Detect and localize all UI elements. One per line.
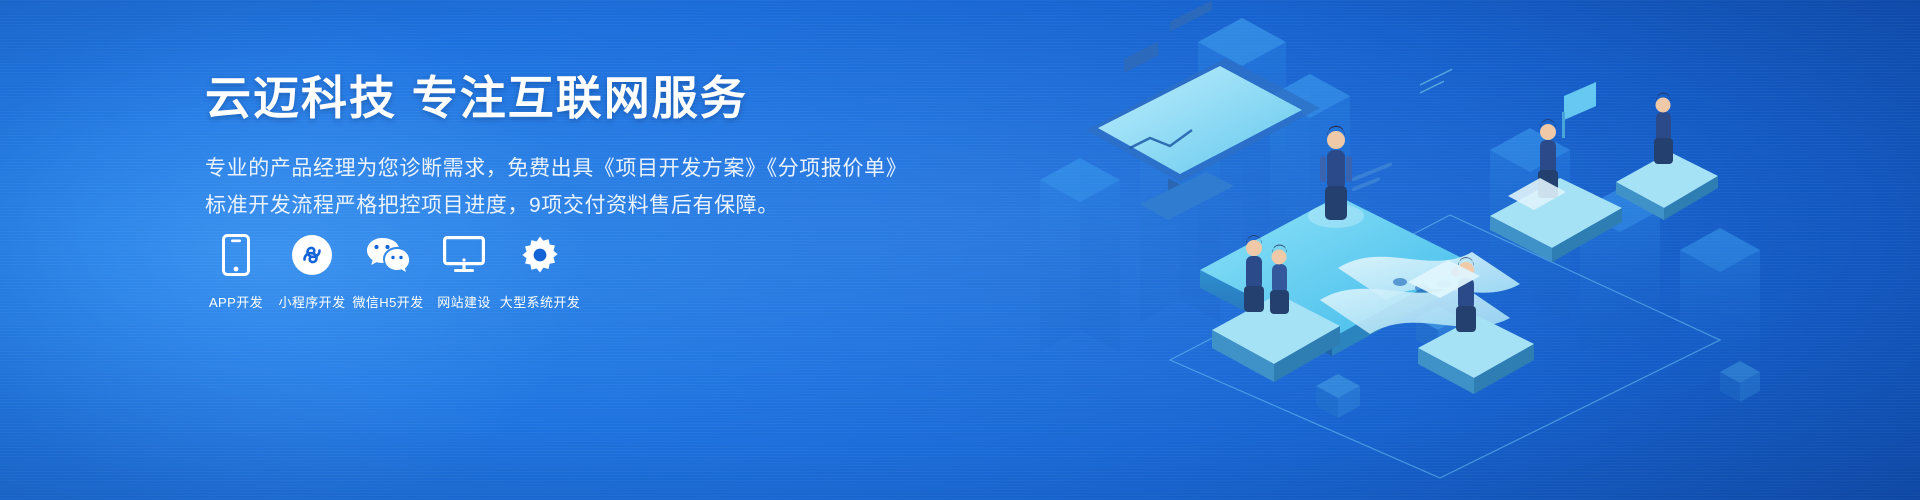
figure-lower-1 [1244, 235, 1264, 312]
service-label: 大型系统开发 [500, 292, 580, 311]
service-item-wechat-h5[interactable]: 微信H5开发 [352, 232, 424, 311]
service-item-miniprogram[interactable]: 小程序开发 [276, 232, 348, 311]
service-label: 微信H5开发 [352, 292, 423, 311]
service-item-website[interactable]: 网站建设 [428, 232, 500, 311]
subtitle-line-1: 专业的产品经理为您诊断需求，免费出具《项目开发方案》《分项报价单》 [205, 150, 905, 187]
service-label: APP开发 [209, 292, 263, 311]
service-item-large-system[interactable]: 大型系统开发 [504, 232, 576, 311]
service-list: APP开发 小程序开发 [200, 232, 580, 311]
gear-icon [519, 232, 561, 278]
page-title: 云迈科技 专注互联网服务 [205, 70, 905, 128]
figure-right-2 [1654, 93, 1673, 164]
promo-banner: 云迈科技 专注互联网服务 专业的产品经理为您诊断需求，免费出具《项目开发方案》《… [0, 0, 1920, 500]
subtitle-line-2: 标准开发流程严格把控项目进度，9项交付资料售后有保障。 [205, 187, 905, 224]
mobile-phone-icon [222, 232, 250, 278]
service-label: 网站建设 [437, 292, 491, 311]
banner-content: 云迈科技 专注互联网服务 专业的产品经理为您诊断需求，免费出具《项目开发方案》《… [205, 70, 905, 224]
monitor-icon [443, 232, 485, 278]
mini-program-icon [291, 232, 333, 278]
wechat-icon [365, 232, 411, 278]
figure-lower-2 [1270, 245, 1289, 314]
banner-subtitle: 专业的产品经理为您诊断需求，免费出具《项目开发方案》《分项报价单》 标准开发流程… [205, 150, 905, 225]
service-label: 小程序开发 [278, 292, 345, 311]
service-item-app[interactable]: APP开发 [200, 232, 272, 311]
hero-illustration [1020, 0, 1920, 500]
